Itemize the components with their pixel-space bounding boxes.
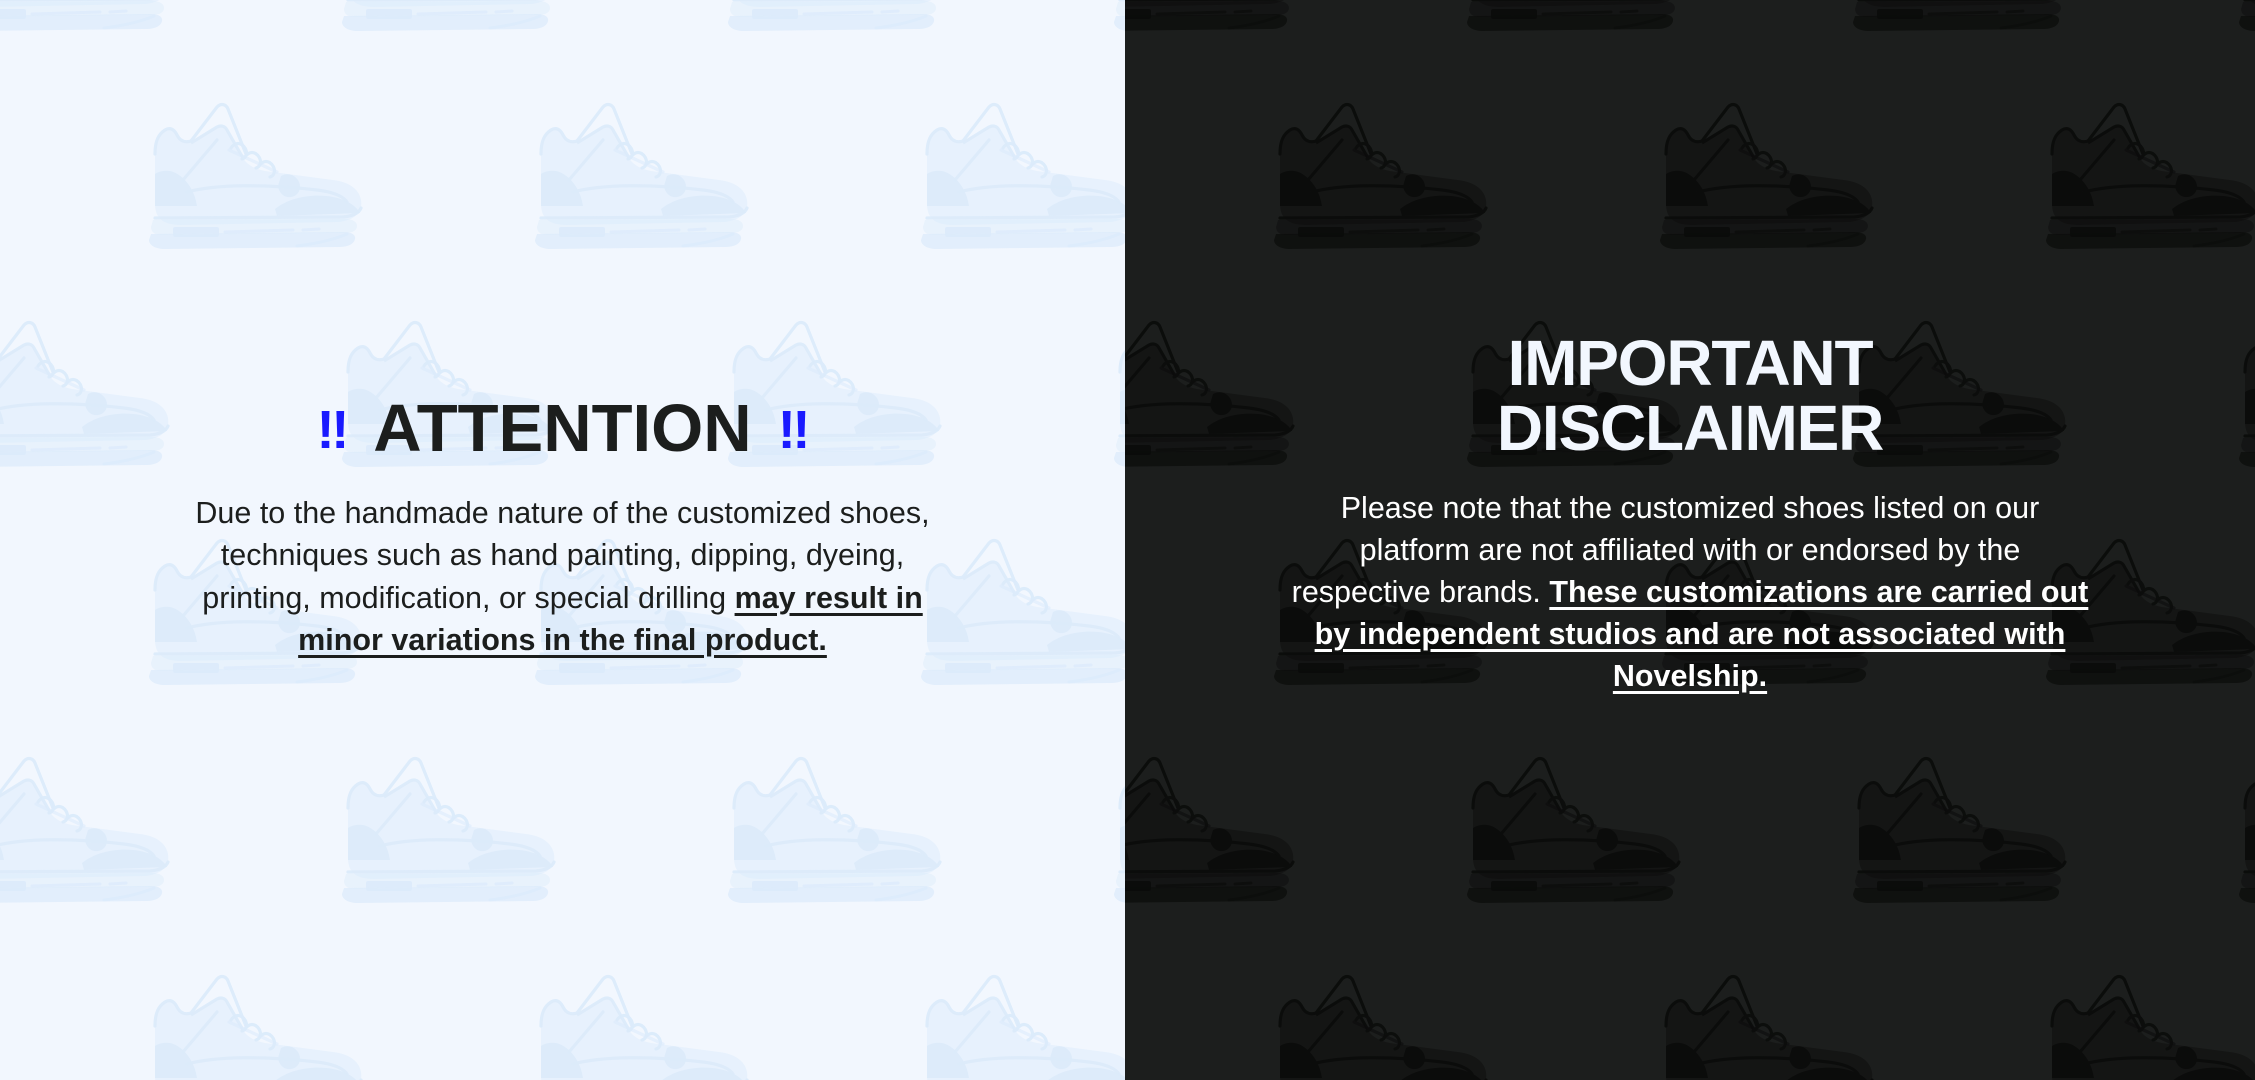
disclaimer-heading-line2: DISCLAIMER (1165, 396, 2215, 461)
double-exclamation-right-icon: ‼ (778, 403, 809, 457)
double-exclamation-left-icon: ‼ (317, 403, 348, 457)
attention-content: ‼ ATTENTION ‼ Due to the handmade nature… (0, 395, 1125, 660)
disclaimer-banner: ‼ ATTENTION ‼ Due to the handmade nature… (0, 0, 2255, 1080)
disclaimer-heading: IMPORTANT DISCLAIMER (1165, 331, 2215, 462)
disclaimer-heading-line1: IMPORTANT (1165, 331, 2215, 396)
attention-panel: ‼ ATTENTION ‼ Due to the handmade nature… (0, 0, 1125, 1080)
disclaimer-body: Please note that the customized shoes li… (1290, 487, 2090, 697)
attention-body: Due to the handmade nature of the custom… (168, 492, 958, 660)
disclaimer-panel: IMPORTANT DISCLAIMER Please note that th… (1125, 0, 2255, 1080)
disclaimer-content: IMPORTANT DISCLAIMER Please note that th… (1125, 331, 2255, 698)
attention-heading: ‼ ATTENTION ‼ (40, 395, 1085, 462)
attention-heading-text: ATTENTION (373, 395, 751, 462)
